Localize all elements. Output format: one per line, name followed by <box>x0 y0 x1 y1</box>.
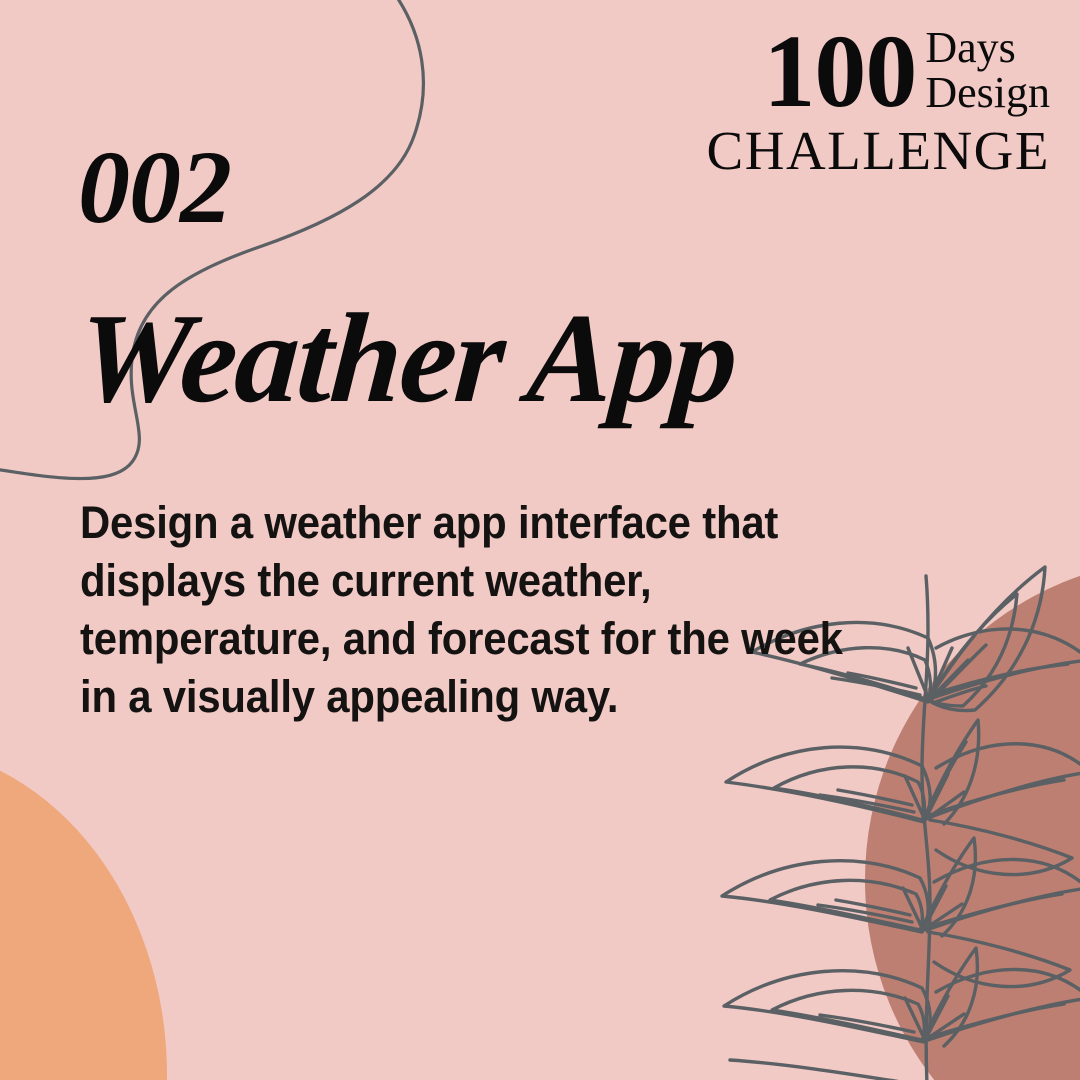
description-line: in a visually appealing way. <box>80 668 898 726</box>
day-number: 002 <box>78 136 231 240</box>
logo-word-days: Days <box>925 26 1015 71</box>
challenge-logo: 100 Days Design CHALLENGE <box>707 24 1050 178</box>
logo-number-100: 100 <box>763 24 916 120</box>
logo-words-stack: Days Design <box>925 26 1050 116</box>
project-title: Weather App <box>74 294 740 422</box>
logo-word-challenge: CHALLENGE <box>707 123 1050 178</box>
description-line: temperature, and forecast for the week <box>80 610 898 668</box>
logo-top-row: 100 Days Design <box>707 24 1050 120</box>
logo-word-design: Design <box>925 71 1050 116</box>
description-line: displays the current weather, <box>80 552 898 610</box>
description-line: Design a weather app interface that <box>80 494 898 552</box>
project-description: Design a weather app interface that disp… <box>80 494 898 726</box>
poster-canvas: 100 Days Design CHALLENGE 002 Weather Ap… <box>0 0 1080 1080</box>
peach-blob <box>0 745 167 1080</box>
